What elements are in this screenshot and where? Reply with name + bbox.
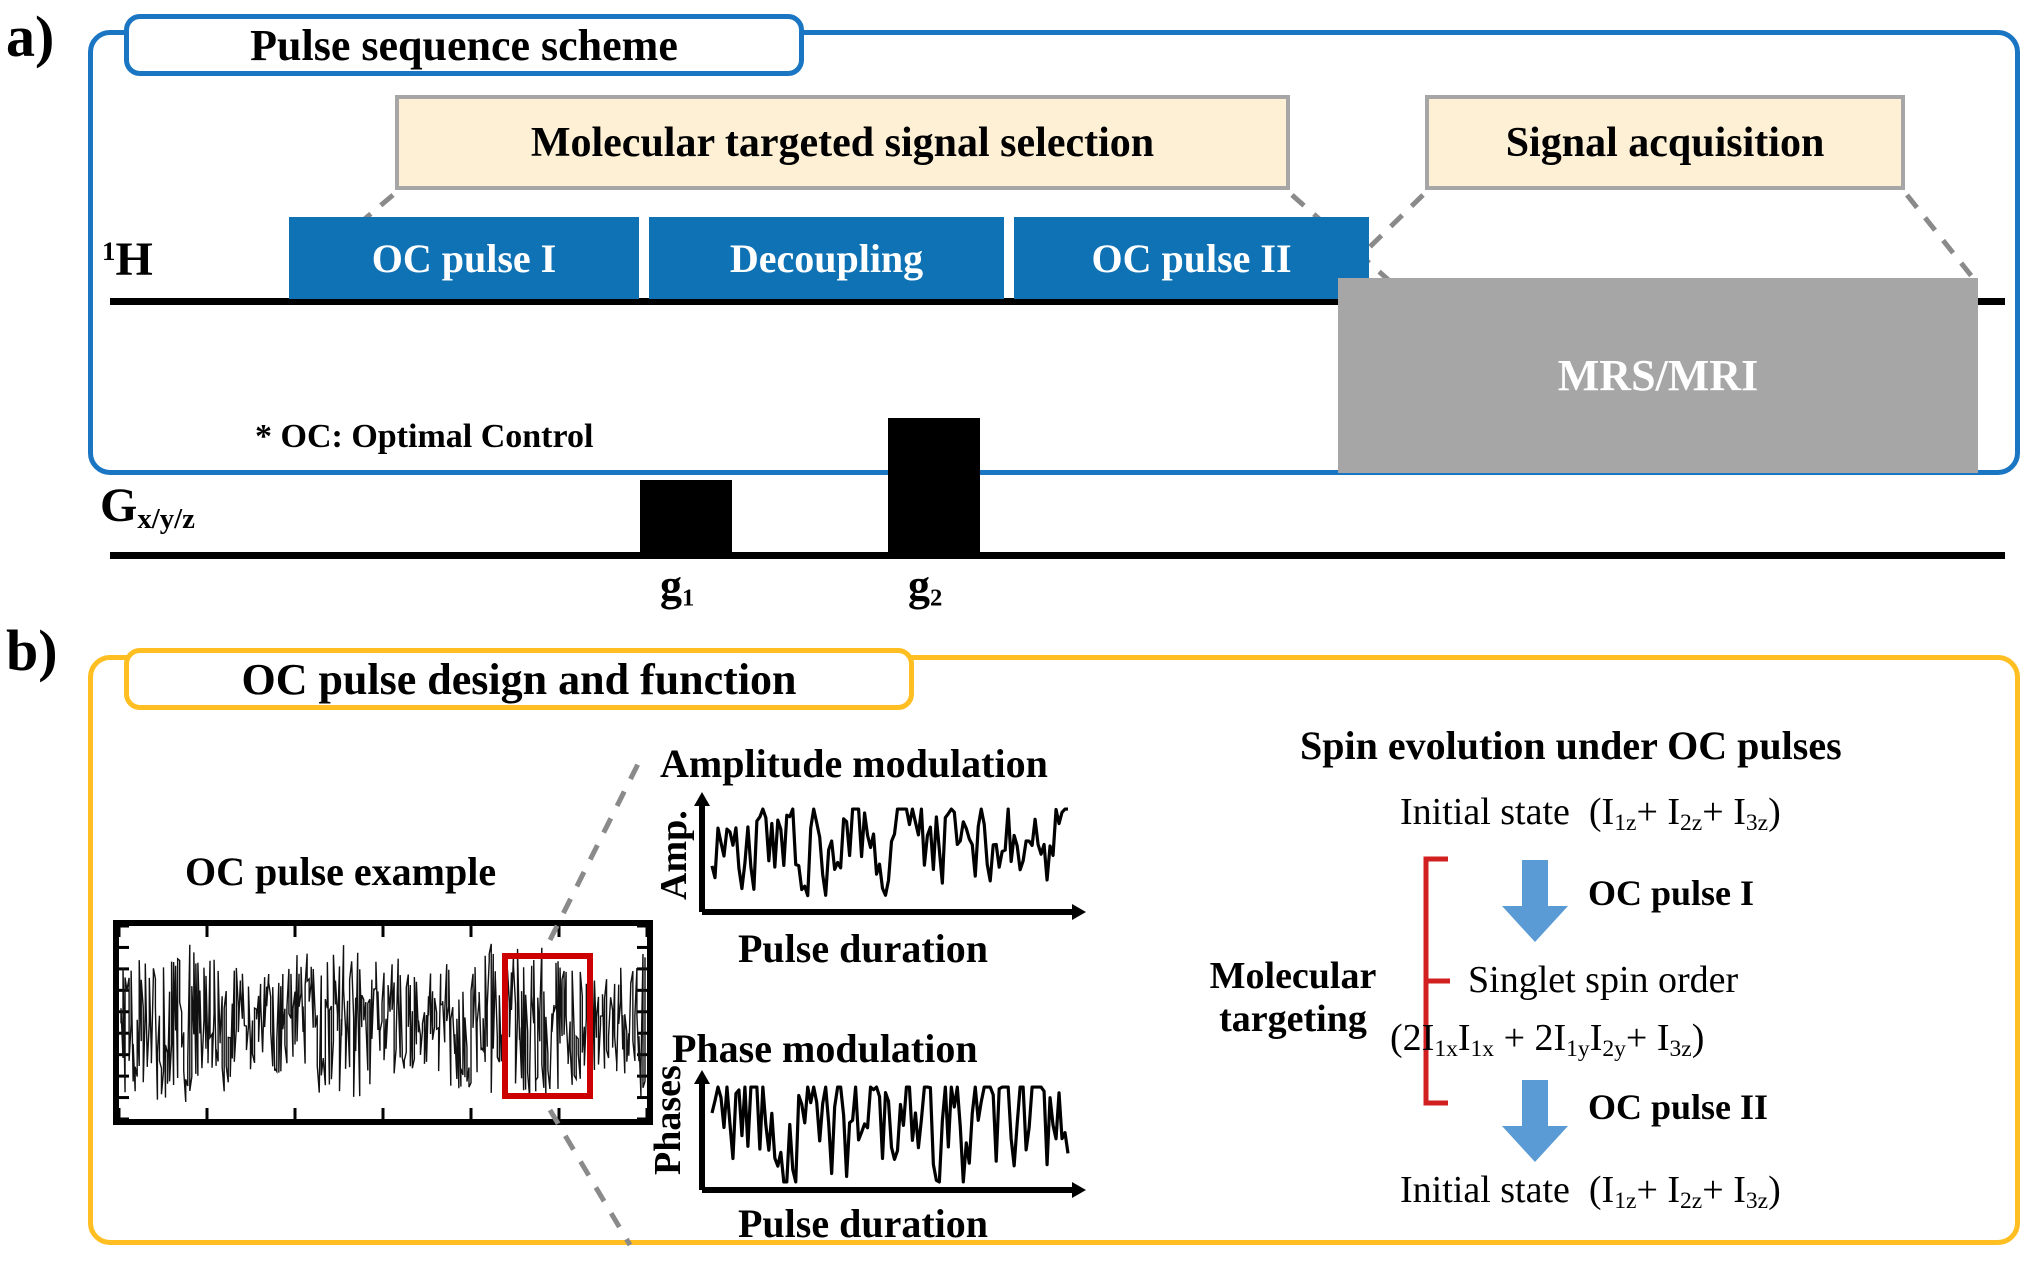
down-arrow-oc-pulse-i-icon [1498, 860, 1572, 944]
rf-block-decoupling: Decoupling [649, 217, 1004, 299]
phase-plot-ylabel: Phases [646, 1065, 690, 1175]
panel-b-title: OC pulse design and function [124, 648, 914, 710]
gradient-label-g1: g1 [660, 560, 694, 612]
gradient-lobe-g2 [888, 418, 980, 552]
acquisition-block-mrs-mri: MRS/MRI [1338, 278, 1978, 473]
amplitude-waveform [712, 809, 1068, 896]
gradient-channel-label: Gx/y/z [100, 478, 195, 536]
spin-state-singlet-label: Singlet spin order [1468, 958, 1738, 1002]
spin-state-initial-bottom-label: Initial state [1400, 1169, 1570, 1211]
panel-a-title: Pulse sequence scheme [124, 14, 804, 76]
amplitude-plot-title: Amplitude modulation [660, 740, 1048, 787]
amplitude-modulation-plot [690, 790, 1090, 920]
spin-evolution-title: Spin evolution under OC pulses [1300, 722, 1842, 769]
g2-index: 2 [930, 584, 942, 611]
phase-plot-title: Phase modulation [672, 1025, 978, 1072]
phase-plot-xlabel: Pulse duration [738, 1200, 988, 1247]
gradient-lobe-g1 [640, 480, 732, 552]
phase-modulation-plot [690, 1068, 1090, 1198]
molecular-targeting-line2: targeting [1178, 998, 1408, 1041]
gradient-label-main: G [100, 479, 137, 532]
rf-label-nucleus: H [115, 233, 152, 286]
gradient-label-axes: x/y/z [137, 503, 195, 535]
phase-y-arrowhead [694, 1070, 710, 1084]
rf-label-superscript: 1 [102, 236, 115, 266]
rf-channel-label: 1H [102, 232, 153, 287]
g1-index: 1 [682, 584, 694, 611]
phase-waveform [712, 1087, 1068, 1182]
panel-a-letter: a) [6, 8, 54, 66]
molecular-targeting-line1: Molecular [1178, 955, 1408, 998]
spin-state-initial-top-label: Initial state [1400, 791, 1570, 833]
spin-state-initial-bottom: Initial state (I1z+ I2z+ I3z) [1400, 1168, 1781, 1215]
phase-x-arrowhead [1072, 1182, 1086, 1198]
amplitude-plot-xlabel: Pulse duration [738, 925, 988, 972]
amp-x-arrowhead [1072, 904, 1086, 920]
molecular-targeting-label: Molecular targeting [1178, 955, 1408, 1040]
panel-b-letter: b) [6, 622, 58, 680]
g2-letter: g [908, 561, 930, 610]
caption-signal-acquisition: Signal acquisition [1425, 95, 1905, 190]
footnote-oc-definition: * OC: Optimal Control [255, 418, 593, 456]
spin-state-initial-top: Initial state (I1z+ I2z+ I3z) [1400, 790, 1781, 837]
rf-block-oc-pulse-i: OC pulse I [289, 217, 639, 299]
figure-root: a) Pulse sequence scheme Molecular targe… [0, 0, 2034, 1263]
amp-y-arrowhead [694, 792, 710, 806]
molecular-targeting-bracket [1420, 856, 1460, 1106]
oc-pulse-example-plot [113, 920, 653, 1125]
rf-block-oc-pulse-ii: OC pulse II [1014, 217, 1369, 299]
arrow-label-oc-pulse-i: OC pulse I [1588, 872, 1754, 914]
g1-letter: g [660, 561, 682, 610]
gradient-label-g2: g2 [908, 560, 942, 612]
spin-state-singlet-formula: (2I1xI1x + 2I1yI2y+ I3z) [1390, 1016, 1704, 1063]
down-arrow-oc-pulse-ii-icon [1498, 1080, 1572, 1164]
gradient-channel-baseline [110, 552, 2005, 559]
arrow-shape [1502, 860, 1568, 942]
arrow-label-oc-pulse-ii: OC pulse II [1588, 1086, 1768, 1128]
oc-pulse-example-caption: OC pulse example [185, 848, 496, 895]
arrow-shape [1502, 1080, 1568, 1162]
caption-molecular-targeted-signal-selection: Molecular targeted signal selection [395, 95, 1290, 190]
